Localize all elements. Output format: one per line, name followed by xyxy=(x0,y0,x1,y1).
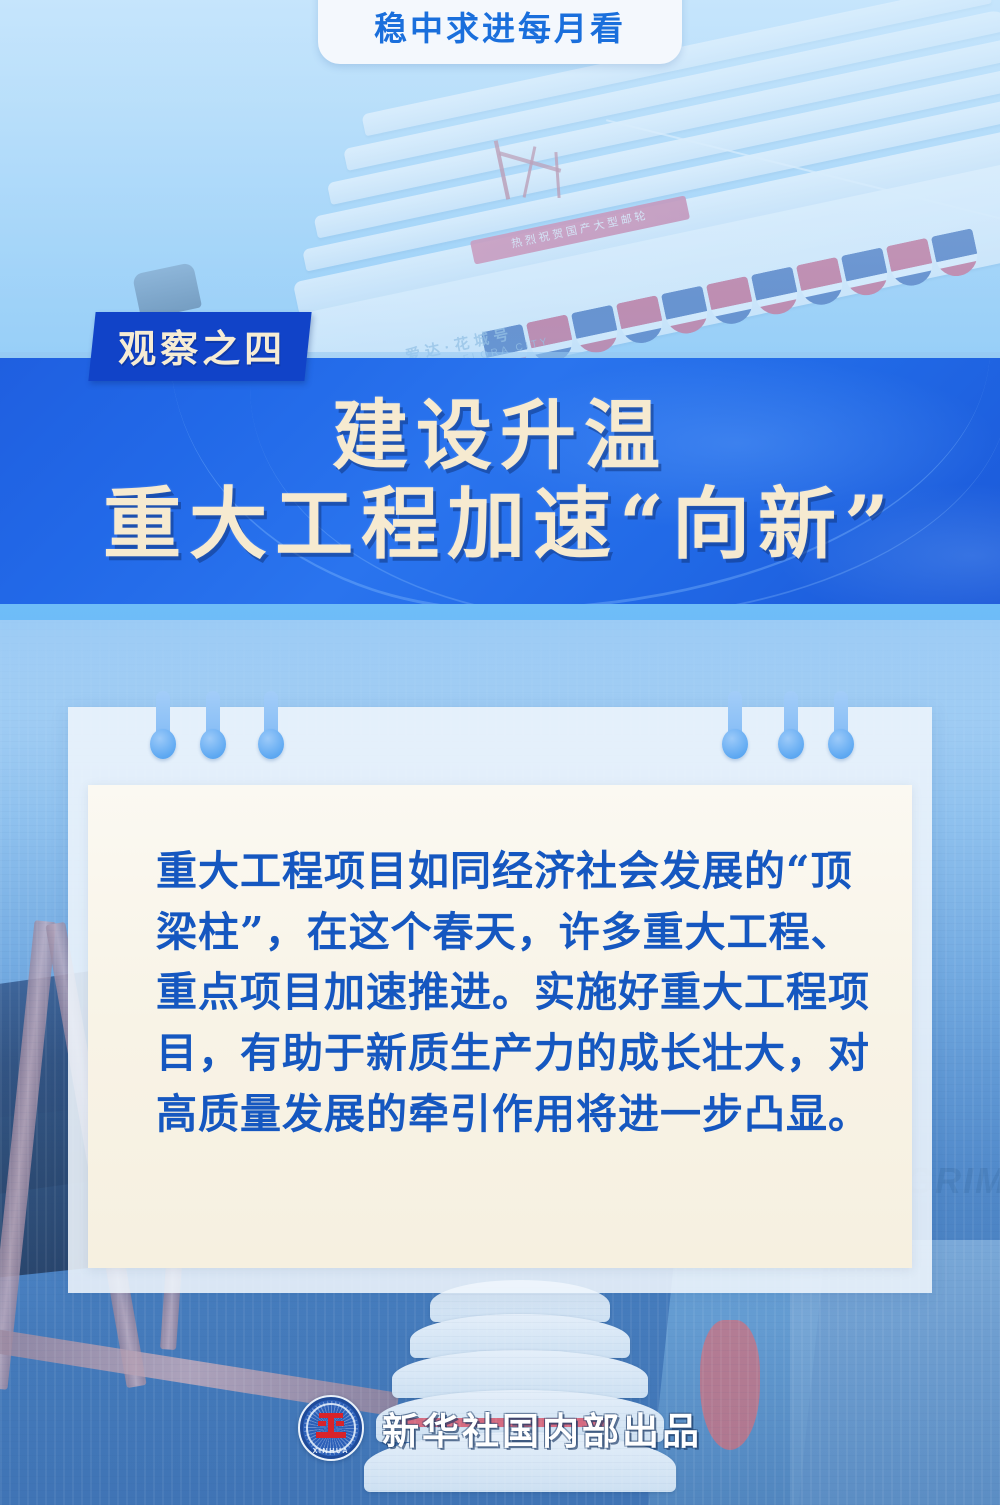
card-inner-panel: 重大工程项目如同经济社会发展的“顶梁柱”，在这个春天，许多重大工程、重点项目加速… xyxy=(88,785,912,1268)
card-pin-icon xyxy=(784,691,798,759)
card-pin-icon xyxy=(156,691,170,759)
poster-root: WAN GRIMALDI xyxy=(0,0,1000,1505)
card-pin-icon xyxy=(206,691,220,759)
logo-wordmark: XINHUA xyxy=(300,1448,362,1455)
card-pin-icon xyxy=(728,691,742,759)
xinhua-logo-icon: XINHUA xyxy=(298,1395,364,1461)
headline-line-1: 建设升温 xyxy=(332,395,668,477)
card-body-paragraph: 重大工程项目如同经济社会发展的“顶梁柱”，在这个春天，许多重大工程、重点项目加速… xyxy=(156,841,872,1144)
card-pin-icon xyxy=(834,691,848,759)
top-badge[interactable]: 稳中求进每月看 xyxy=(318,0,682,64)
top-badge-label: 稳中求进每月看 xyxy=(374,2,626,64)
headline-band: 建设升温 重大工程加速“向新” xyxy=(0,358,1000,604)
card-pin-group xyxy=(68,691,932,771)
logo-emblem xyxy=(316,1413,346,1439)
footer-credit-text: 新华社国内部出品 xyxy=(382,1401,702,1455)
headline-line-2: 重大工程加速“向新” xyxy=(103,483,897,567)
content-card: 重大工程项目如同经济社会发展的“顶梁柱”，在这个春天，许多重大工程、重点项目加速… xyxy=(68,707,932,1293)
card-body-text: 重大工程项目如同经济社会发展的“顶梁柱”，在这个春天，许多重大工程、重点项目加速… xyxy=(156,841,872,1144)
card-pin-icon xyxy=(264,691,278,759)
headline-text-group: 建设升温 重大工程加速“向新” xyxy=(0,358,1000,604)
observation-tag-label: 观察之四 xyxy=(118,318,286,373)
footer-credit: XINHUA 新华社国内部出品 xyxy=(0,1393,1000,1463)
observation-tag: 观察之四 xyxy=(88,312,311,381)
